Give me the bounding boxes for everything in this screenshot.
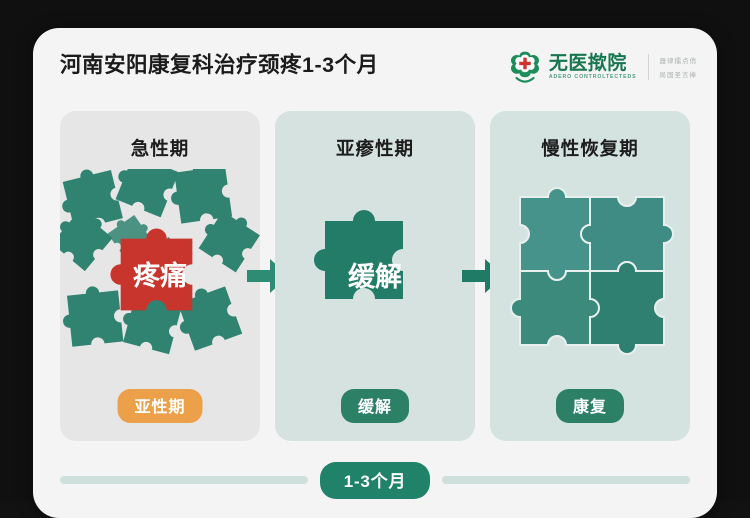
stage-panel-subacute[interactable]: 亚瘆性期 缓解 缓解: [275, 111, 475, 441]
page-title: 河南安阳康复科治疗颈疼1-3个月: [60, 48, 379, 79]
stage-panel-recovery[interactable]: 慢性恢复期: [490, 111, 690, 441]
brand-tagline-line1: 器律擂点俏: [660, 55, 698, 65]
relief-piece-label: 缓解: [348, 262, 402, 292]
assembled-puzzle-grid-art: [490, 169, 690, 381]
brand-tagline-line2: 局国圣言捧: [660, 69, 698, 79]
diagram-canvas: 河南安阳康复科治疗颈疼1-3个月 无医揿院 ADERO CONTROLTECTE…: [0, 0, 750, 500]
stage-title-acute: 急性期: [60, 135, 260, 161]
brand-tagline: 器律擂点俏 局国圣言捧: [660, 55, 698, 79]
scattered-puzzle-pieces-art: 疼痛: [60, 169, 260, 381]
pain-piece-label: 疼痛: [133, 260, 187, 291]
timeline-bar-right: [442, 476, 690, 484]
single-puzzle-piece-art: 缓解: [275, 169, 475, 381]
medical-cross-icon: [508, 50, 542, 84]
stage-title-subacute: 亚瘆性期: [275, 135, 475, 161]
header: 河南安阳康复科治疗颈疼1-3个月 无医揿院 ADERO CONTROLTECTE…: [33, 28, 717, 98]
timeline-footer: 1-3个月: [60, 464, 690, 496]
brand-name-cn: 无医揿院: [549, 54, 637, 73]
stage-badge-recovery[interactable]: 康复: [556, 389, 624, 423]
stage-panel-acute[interactable]: 急性期: [60, 111, 260, 441]
logo-divider: [648, 54, 649, 80]
brand-name-en: ADERO CONTROLTECTEDS: [549, 75, 637, 80]
arrow-slot-1: [260, 111, 275, 441]
stage-badge-acute[interactable]: 亚性期: [117, 389, 202, 423]
timeline-duration-badge[interactable]: 1-3个月: [320, 462, 431, 499]
content-card: 河南安阳康复科治疗颈疼1-3个月 无医揿院 ADERO CONTROLTECTE…: [33, 28, 717, 518]
stages-row: 急性期: [60, 111, 690, 441]
brand-logo: 无医揿院 ADERO CONTROLTECTEDS 器律擂点俏 局国圣言捧: [508, 50, 697, 84]
stage-badge-subacute[interactable]: 缓解: [341, 389, 409, 423]
arrow-slot-2: [475, 111, 490, 441]
stage-title-recovery: 慢性恢复期: [490, 135, 690, 161]
brand-name-block: 无医揿院 ADERO CONTROLTECTEDS: [549, 54, 637, 80]
timeline-bar-left: [60, 476, 308, 484]
